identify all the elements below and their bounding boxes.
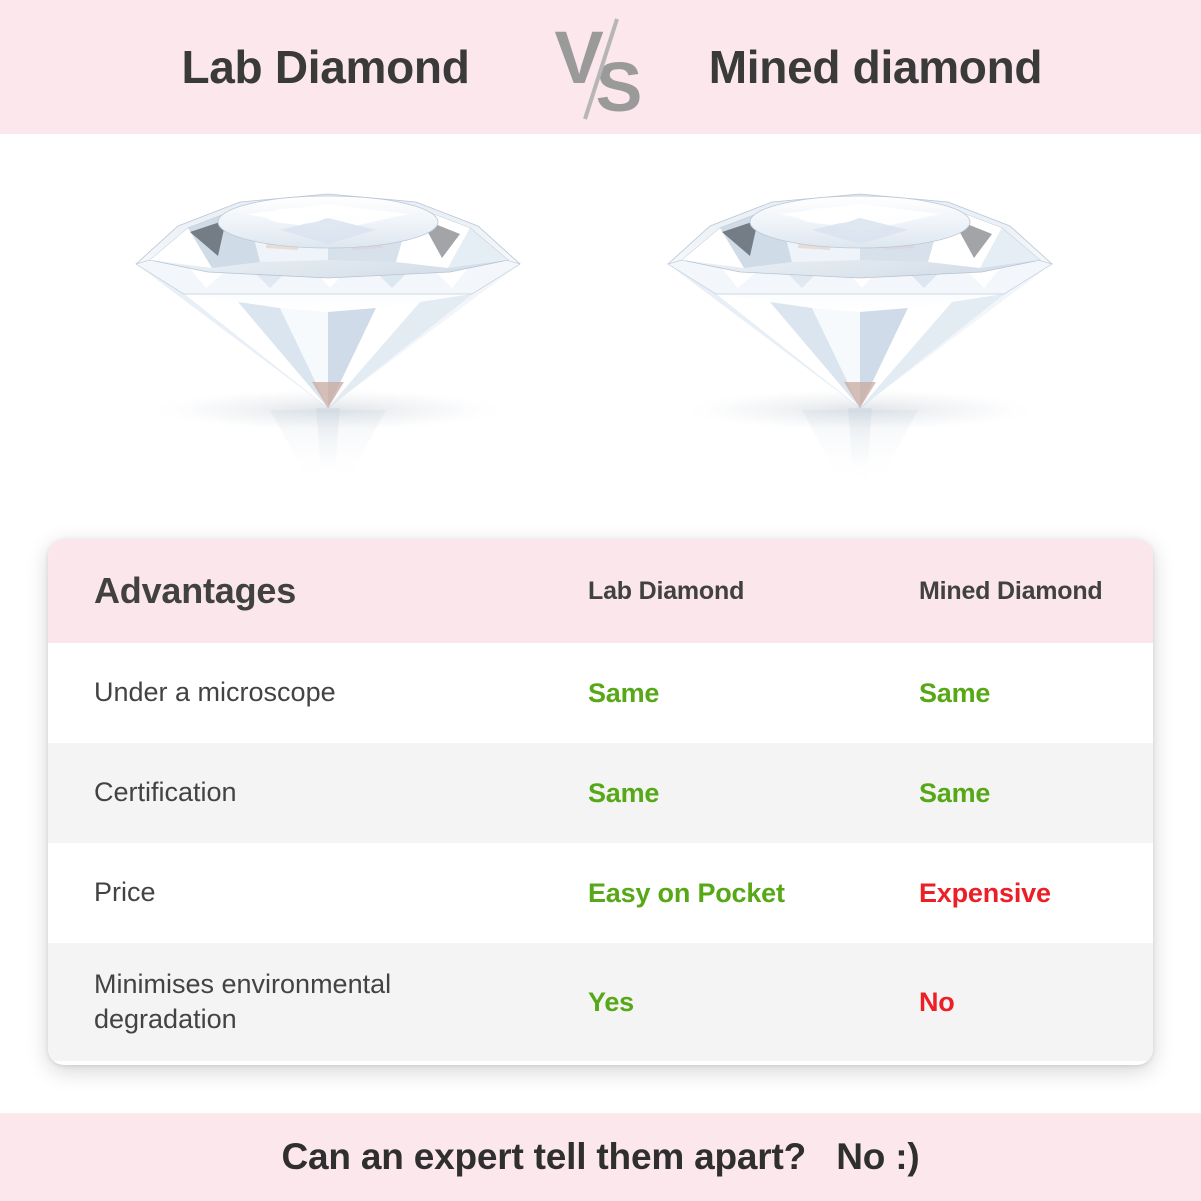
lab-value: Same [588, 778, 659, 808]
cell-lab-value: Same [542, 778, 873, 809]
table-row: Price Easy on Pocket Expensive [48, 843, 1153, 943]
lab-diamond-image [120, 152, 540, 492]
cell-feature: Price [48, 875, 542, 910]
table-row: Under a microscope Same Same [48, 643, 1153, 743]
header-band: Lab Diamond V S Mined diamond [0, 0, 1201, 134]
header-label-advantages: Advantages [94, 570, 296, 611]
cell-mined-value: Same [873, 678, 1153, 709]
cell-lab-value: Easy on Pocket [542, 878, 873, 909]
header-label-mined: Mined Diamond [919, 577, 1103, 605]
mined-diamond-image [652, 152, 1072, 492]
feature-label: Certification [94, 777, 237, 807]
mined-value: Same [919, 678, 990, 708]
cell-feature: Minimises environmental degradation [48, 967, 542, 1037]
feature-label: Minimises environmental degradation [94, 969, 391, 1034]
cell-mined-value: No [873, 987, 1153, 1018]
lab-value: Easy on Pocket [588, 878, 785, 908]
lab-value: Same [588, 678, 659, 708]
footer-band: Can an expert tell them apart? No :) [0, 1113, 1201, 1201]
mined-value: Same [919, 778, 990, 808]
cell-mined-value: Same [873, 778, 1153, 809]
vs-badge: V S [541, 7, 661, 127]
table-row: Certification Same Same [48, 743, 1153, 843]
table-header-row: Advantages Lab Diamond Mined Diamond [48, 539, 1153, 643]
mined-value: Expensive [919, 878, 1051, 908]
table-row: Minimises environmental degradation Yes … [48, 943, 1153, 1061]
cell-mined-value: Expensive [873, 878, 1153, 909]
cell-feature: Under a microscope [48, 675, 542, 710]
infographic-page: Lab Diamond V S Mined diamond [0, 0, 1201, 1201]
diamond-stage [0, 134, 1201, 529]
footer-question: Can an expert tell them apart? No :) [282, 1136, 920, 1178]
header-cell-advantages: Advantages [48, 570, 542, 612]
header-label-lab: Lab Diamond [588, 577, 744, 605]
lab-value: Yes [588, 987, 634, 1017]
cell-feature: Certification [48, 775, 542, 810]
feature-label: Under a microscope [94, 677, 336, 707]
header-title-lab: Lab Diamond [111, 40, 541, 94]
cell-lab-value: Yes [542, 987, 873, 1018]
comparison-table: Advantages Lab Diamond Mined Diamond Und… [48, 539, 1153, 1065]
mined-value: No [919, 987, 955, 1017]
header-cell-mined: Mined Diamond [873, 577, 1153, 606]
cell-lab-value: Same [542, 678, 873, 709]
feature-label: Price [94, 877, 156, 907]
header-cell-lab: Lab Diamond [542, 577, 873, 606]
comparison-card: Advantages Lab Diamond Mined Diamond Und… [48, 539, 1153, 1065]
header-title-mined: Mined diamond [661, 40, 1091, 94]
